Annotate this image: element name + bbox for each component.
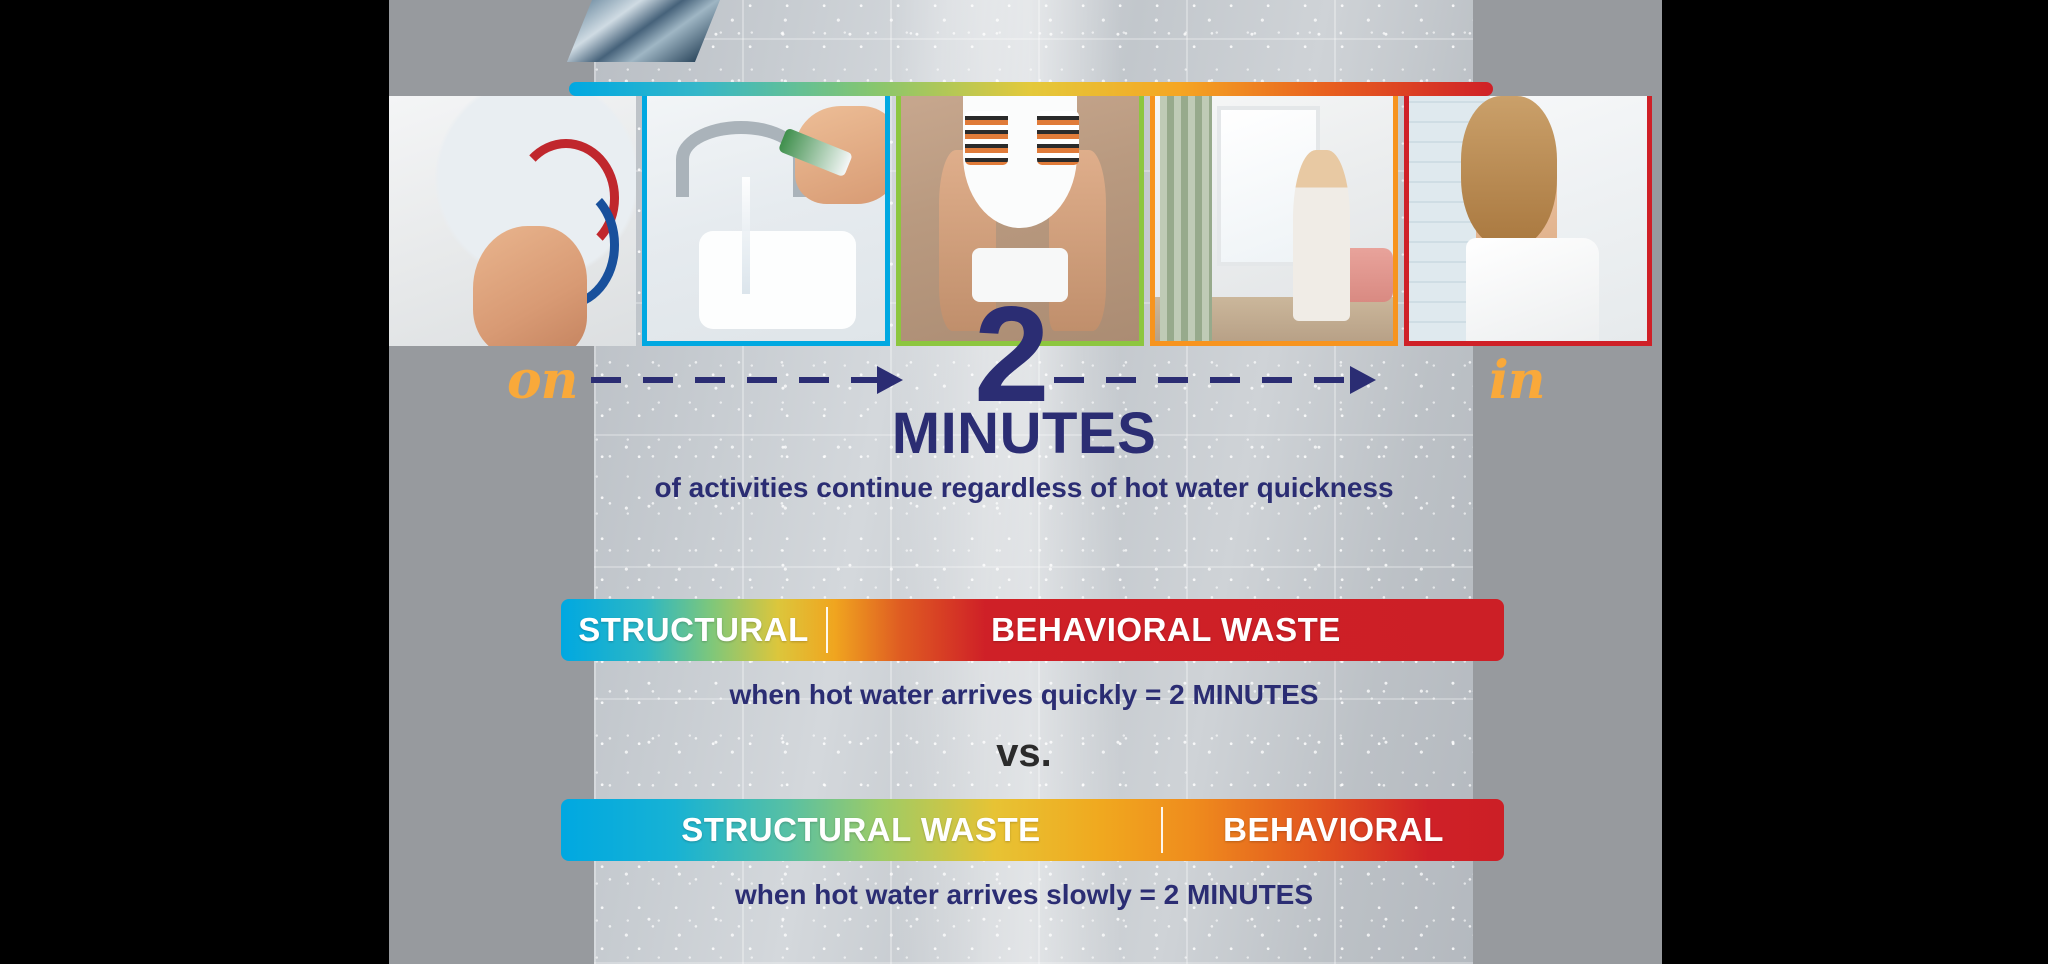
headline-subtitle: of activities continue regardless of hot… (0, 472, 2048, 504)
striped-sock-right (1037, 111, 1080, 165)
headline-minutes: MINUTES (0, 400, 2048, 467)
shower-valve-photo (389, 96, 636, 346)
towel-photo (1404, 96, 1652, 346)
girl-bedroom-photo (1150, 96, 1398, 346)
comparison-bar-quick: STRUCTURAL BEHAVIORAL WASTE (561, 599, 1504, 661)
comparison-bar-slow: STRUCTURAL WASTE BEHAVIORAL (561, 799, 1504, 861)
hand-shape (473, 226, 587, 346)
bar-slow-structural-label: STRUCTURAL WASTE (561, 799, 1161, 861)
bar-slow-behavioral-label: BEHAVIORAL (1163, 799, 1504, 861)
striped-sock-left (965, 111, 1008, 165)
arrow-head-right-icon (1350, 366, 1376, 394)
infographic-stage: on in 2 MINUTES of activities continue r… (0, 0, 2048, 964)
vs-label: vs. (0, 731, 2048, 776)
gradient-strip-top (569, 82, 1493, 96)
caption-quick: when hot water arrives quickly = 2 MINUT… (0, 679, 2048, 711)
bar-quick-behavioral-label: BEHAVIORAL WASTE (828, 599, 1504, 661)
girl-figure-shape (1293, 150, 1350, 322)
dashed-line-left (591, 377, 877, 383)
toothbrush-photo (642, 96, 890, 346)
towel-shape (1466, 238, 1599, 346)
sink-basin-shape (699, 231, 856, 329)
hair-shape (1461, 96, 1556, 248)
big-number-two: 2 (974, 296, 1050, 413)
water-stream-shape (742, 177, 750, 295)
bar-quick-structural-label: STRUCTURAL (561, 599, 826, 661)
arrow-head-left-icon (877, 366, 903, 394)
shower-head-photo (567, 0, 720, 62)
curtain-shape (1160, 96, 1212, 341)
dashed-line-right (1054, 377, 1350, 383)
caption-slow: when hot water arrives slowly = 2 MINUTE… (0, 879, 2048, 911)
